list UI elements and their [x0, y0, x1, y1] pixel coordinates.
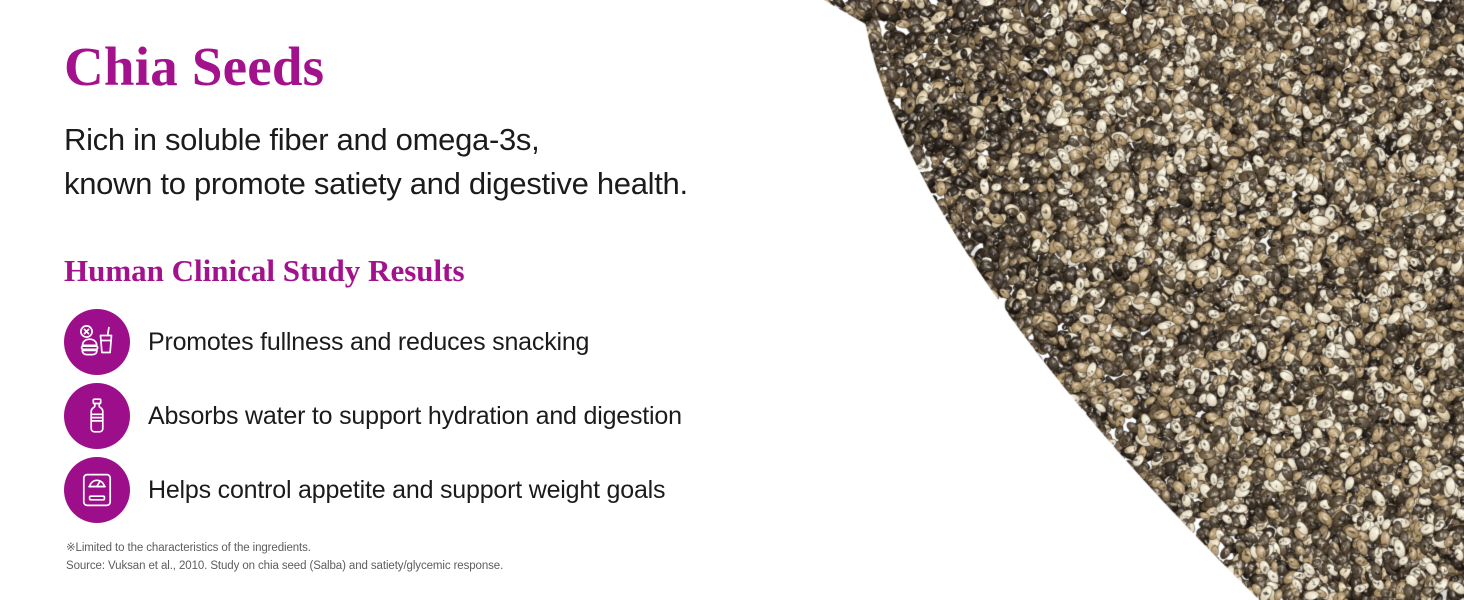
subtitle-line-2: known to promote satiety and digestive h…	[64, 162, 688, 206]
list-item: Promotes fullness and reduces snacking	[64, 305, 824, 379]
weighing-scale-icon	[76, 469, 118, 511]
list-item-label: Helps control appetite and support weigh…	[148, 476, 665, 505]
footnote: ※Limited to the characteristics of the i…	[66, 540, 503, 576]
chia-seeds-banner: Chia Seeds Rich in soluble fiber and ome…	[0, 0, 1464, 600]
subtitle: Rich in soluble fiber and omega-3s, know…	[64, 118, 688, 206]
no-fast-food-icon	[76, 321, 118, 363]
footnote-line-2: Source: Vuksan et al., 2010. Study on ch…	[66, 558, 503, 576]
list-item: Absorbs water to support hydration and d…	[64, 379, 824, 453]
icon-badge	[64, 309, 130, 375]
water-bottle-icon	[76, 395, 118, 437]
page-title: Chia Seeds	[64, 38, 324, 96]
list-item-label: Absorbs water to support hydration and d…	[148, 402, 682, 431]
section-heading-clinical-results: Human Clinical Study Results	[64, 252, 465, 289]
subtitle-line-1: Rich in soluble fiber and omega-3s,	[64, 118, 688, 162]
list-item: Helps control appetite and support weigh…	[64, 453, 824, 527]
content-column: Chia Seeds Rich in soluble fiber and ome…	[64, 0, 854, 600]
footnote-line-1: ※Limited to the characteristics of the i…	[66, 540, 503, 558]
chia-seeds-photo	[824, 0, 1464, 600]
icon-badge	[64, 383, 130, 449]
clinical-results-list: Promotes fullness and reduces snacking	[64, 305, 824, 527]
icon-badge	[64, 457, 130, 523]
chia-seeds-canvas	[824, 0, 1464, 600]
list-item-label: Promotes fullness and reduces snacking	[148, 328, 589, 357]
